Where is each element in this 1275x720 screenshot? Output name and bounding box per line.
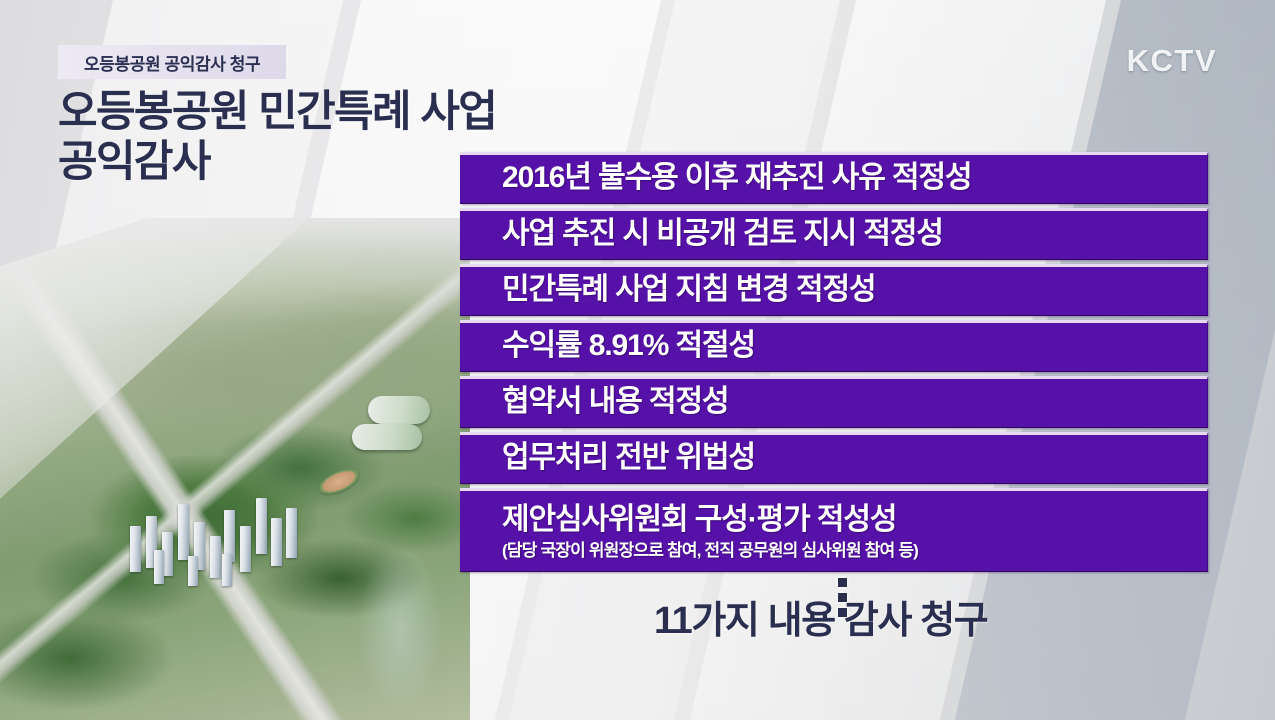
list-item: 제안심사위원회 구성·평가 적성성 (담당 국장이 위원장으로 참여, 전직 공… — [460, 488, 1208, 572]
list-item-label: 수익률 8.91% 적절성 — [502, 331, 1207, 361]
list-item-label: 사업 추진 시 비공개 검토 지시 적정성 — [502, 219, 1207, 249]
list-item: 사업 추진 시 비공개 검토 지시 적정성 — [460, 208, 1208, 260]
list-item-label: 2016년 불수용 이후 재추진 사유 적정성 — [502, 163, 1207, 193]
list-item-label: 민간특례 사업 지침 변경 적정성 — [502, 275, 1207, 305]
list-item-label: 협약서 내용 적정성 — [502, 387, 1207, 417]
kctv-logo: KCTV — [1127, 43, 1217, 79]
list-item: 협약서 내용 적정성 — [460, 376, 1208, 428]
list-item: 민간특례 사업 지침 변경 적정성 — [460, 264, 1208, 316]
topic-badge: 오등봉공원 공익감사 청구 — [58, 45, 286, 79]
photo-fade-overlay — [0, 218, 470, 720]
page-title: 오등봉공원 민간특례 사업 공익감사 — [58, 88, 496, 188]
list-item: 2016년 불수용 이후 재추진 사유 적정성 — [460, 152, 1208, 204]
broadcast-graphic: KCTV 오등봉공원 공익감사 청구 오등봉공원 민간특례 사업 공익감사 20… — [0, 0, 1275, 720]
list-item-label: 제안심사위원회 구성·평가 적성성 — [502, 505, 1207, 535]
aerial-rendering-image — [0, 218, 470, 720]
list-item: 수익률 8.91% 적절성 — [460, 320, 1208, 372]
summary-text: 11가지 내용 감사 청구 — [654, 602, 987, 640]
list-item-subtext: (담당 국장이 위원장으로 참여, 전직 공무원의 심사위원 참여 등) — [502, 542, 1207, 559]
audit-items-list: 2016년 불수용 이후 재추진 사유 적정성 사업 추진 시 비공개 검토 지… — [460, 152, 1208, 576]
list-item: 업무처리 전반 위법성 — [460, 432, 1208, 484]
list-item-label: 업무처리 전반 위법성 — [502, 443, 1207, 473]
connector-dot — [838, 578, 847, 587]
